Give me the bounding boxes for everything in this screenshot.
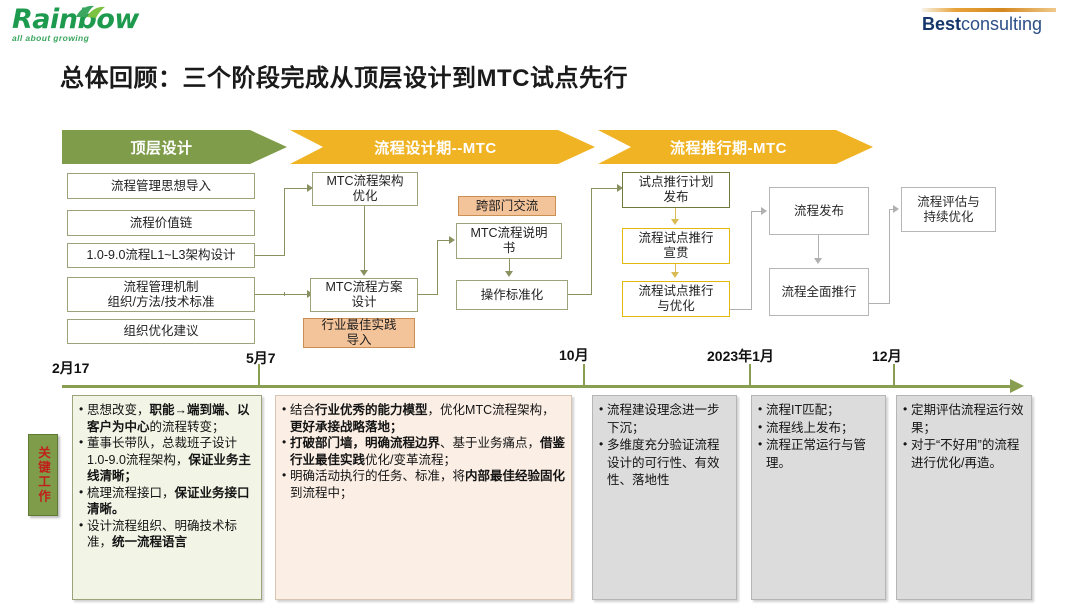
flow-box-s1-1[interactable]: 流程管理思想导入 <box>67 173 255 199</box>
phase-banner-3: 流程推行期-MTC <box>598 130 873 164</box>
panel-4-list: 流程IT匹配； 流程线上发布； 流程正常运行与管理。 <box>758 402 880 472</box>
connector-s3-3-right <box>730 309 752 310</box>
panel-2-list: 结合行业优秀的能力模型，优化MTC流程架构，更好承接战略落地； 打破部门墙，明确… <box>282 402 566 501</box>
phase-banner-2-label: 流程设计期--MTC <box>374 137 496 158</box>
flow-box-s3-3[interactable]: 流程试点推行 与优化 <box>622 281 730 317</box>
key-work-panel-1: 思想改变，职能→端到端、以客户为中心的流程转变； 董事长带队，总裁班子设计1.0… <box>72 395 262 600</box>
list-item: 思想改变，职能→端到端、以客户为中心的流程转变； <box>79 402 256 435</box>
flow-box-s2-1[interactable]: MTC流程架构 优化 <box>312 172 418 206</box>
best-logo-bold: Best <box>922 14 961 34</box>
panel-3-list: 流程建设理念进一步下沉； 多维度充分验证流程设计的可行性、有效性、落地性 <box>599 402 731 490</box>
list-item: 流程IT匹配； <box>758 402 880 420</box>
phase-banner-1: 顶层设计 <box>62 130 287 164</box>
page-title: 总体回顾：三个阶段完成从顶层设计到MTC试点先行 <box>60 58 628 93</box>
phase-banner-2: 流程设计期--MTC <box>290 130 595 164</box>
flow-box-s2-2[interactable]: MTC流程方案 设计 <box>310 278 418 312</box>
key-work-panel-4: 流程IT匹配； 流程线上发布； 流程正常运行与管理。 <box>751 395 886 600</box>
arrow-s3-2-to-s3-3 <box>671 272 679 278</box>
arrow-to-s3-6 <box>893 205 899 213</box>
timeline-label-3: 2023年1月 <box>707 346 774 366</box>
list-item: 董事长带队，总裁班子设计1.0-9.0流程架构，保证业务主线清晰； <box>79 435 256 485</box>
panel-5-list: 定期评估流程运行效果； 对于“不好用”的流程进行优化/再造。 <box>903 402 1026 472</box>
flow-box-s2-3[interactable]: 行业最佳实践 导入 <box>303 318 415 348</box>
flow-box-s2-4[interactable]: 跨部门交流 <box>458 196 556 216</box>
list-item: 明确活动执行的任务、标准，将内部最佳经验固化到流程中； <box>282 468 566 501</box>
timeline-tick-4 <box>893 364 895 385</box>
flow-box-s3-6[interactable]: 流程评估与 持续优化 <box>901 187 996 232</box>
phase-banner-1-label: 顶层设计 <box>130 137 192 158</box>
flow-box-s1-4[interactable]: 流程管理机制 组织/方法/技术标准 <box>67 277 255 312</box>
list-item: 定期评估流程运行效果； <box>903 402 1026 437</box>
list-item: 流程线上发布； <box>758 420 880 438</box>
connector-s2-6-up <box>591 188 592 295</box>
connector-s2-2-up <box>437 240 438 295</box>
arrow-to-s3-4 <box>761 207 767 215</box>
leaf-icon <box>74 4 108 20</box>
best-logo-bar <box>922 8 1056 12</box>
connector-s1-4-right <box>255 294 285 295</box>
flow-box-s3-1[interactable]: 试点推行计划 发布 <box>622 172 730 208</box>
arrow-s3-1-to-s3-2 <box>671 219 679 225</box>
connector-s3-5-up <box>889 209 890 304</box>
best-logo-light: consulting <box>961 14 1042 34</box>
timeline-arrow-icon <box>1010 379 1024 393</box>
flow-box-s2-5[interactable]: MTC流程说明 书 <box>456 223 562 259</box>
phase-banner-3-label: 流程推行期-MTC <box>670 137 787 158</box>
connector-s3-4-to-s3-5 <box>818 235 819 259</box>
connector-s2-6-right <box>568 294 592 295</box>
list-item: 设计流程组织、明确技术标准，统一流程语言 <box>79 518 256 551</box>
timeline-tick-2 <box>583 364 585 385</box>
list-item: 梳理流程接口，保证业务接口清晰。 <box>79 485 256 518</box>
flow-box-s1-5[interactable]: 组织优化建议 <box>67 319 255 344</box>
key-work-panel-2: 结合行业优秀的能力模型，优化MTC流程架构，更好承接战略落地； 打破部门墙，明确… <box>275 395 572 600</box>
connector-to-s3-1 <box>591 188 619 189</box>
timeline-axis <box>62 385 1012 388</box>
timeline-label-1: 5月7 <box>246 348 276 368</box>
flow-box-s2-6[interactable]: 操作标准化 <box>456 280 568 310</box>
connector-s1-3-right <box>255 255 285 256</box>
flow-box-s1-3[interactable]: 1.0-9.0流程L1~L3架构设计 <box>67 243 255 268</box>
connector-s3-5-right <box>869 303 890 304</box>
flow-box-s1-2[interactable]: 流程价值链 <box>67 210 255 236</box>
arrow-to-s2-5 <box>449 236 455 244</box>
timeline-label-2: 10月 <box>559 345 589 365</box>
list-item: 打破部门墙，明确流程边界、基于业务痛点，借鉴行业最佳实践优化/变革流程； <box>282 435 566 468</box>
connector-s3-3-up <box>751 211 752 310</box>
list-item: 多维度充分验证流程设计的可行性、有效性、落地性 <box>599 437 731 490</box>
key-work-panel-5: 定期评估流程运行效果； 对于“不好用”的流程进行优化/再造。 <box>896 395 1032 600</box>
timeline-tick-3 <box>749 364 751 385</box>
timeline-label-0: 2月17 <box>52 358 89 378</box>
timeline-label-4: 12月 <box>872 346 902 366</box>
key-work-panel-3: 流程建设理念进一步下沉； 多维度充分验证流程设计的可行性、有效性、落地性 <box>592 395 737 600</box>
arrow-s3-4-to-s3-5 <box>814 258 822 264</box>
flow-box-s3-5[interactable]: 流程全面推行 <box>769 268 869 316</box>
arrow-s2-1-to-s2-2 <box>360 270 368 276</box>
connector-s1-3-up <box>284 188 285 256</box>
list-item: 流程正常运行与管理。 <box>758 437 880 472</box>
flow-box-s3-4[interactable]: 流程发布 <box>769 187 869 235</box>
list-item: 流程建设理念进一步下沉； <box>599 402 731 437</box>
arrow-s2-5-to-s2-6 <box>505 271 513 277</box>
panel-1-list: 思想改变，职能→端到端、以客户为中心的流程转变； 董事长带队，总裁班子设计1.0… <box>79 402 256 551</box>
list-item: 结合行业优秀的能力模型，优化MTC流程架构，更好承接战略落地； <box>282 402 566 435</box>
best-consulting-logo: Bestconsulting <box>922 8 1062 34</box>
flow-box-s3-2[interactable]: 流程试点推行 宣贯 <box>622 228 730 264</box>
list-item: 对于“不好用”的流程进行优化/再造。 <box>903 437 1026 472</box>
key-work-badge: 关键工作 <box>28 434 58 516</box>
rainbow-logo: Rainbow all about growing <box>12 6 152 46</box>
connector-s2-2-right <box>418 294 438 295</box>
connector-s2-1-to-s2-2 <box>364 206 365 270</box>
